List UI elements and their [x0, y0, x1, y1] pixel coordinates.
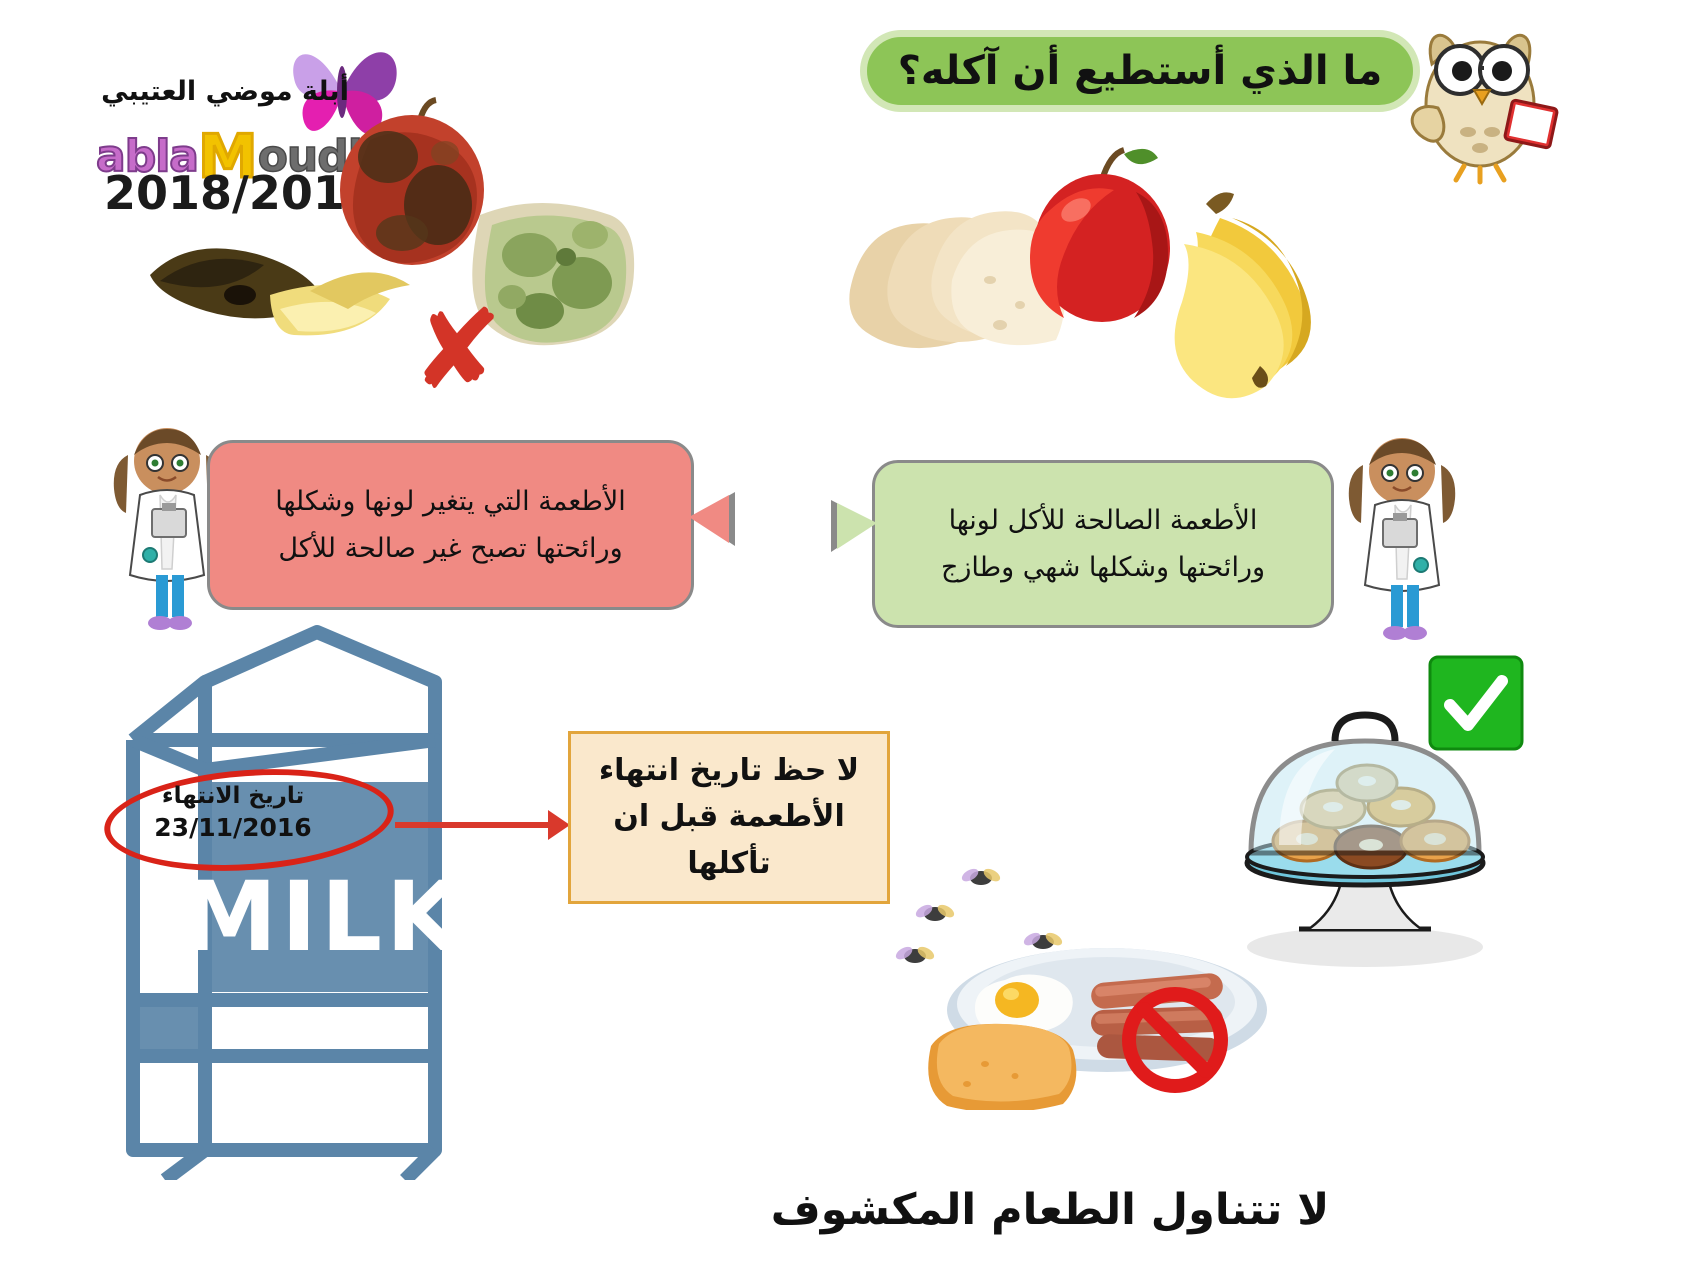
fresh-food-image-group — [840, 140, 1360, 400]
owl-icon — [1380, 8, 1580, 188]
spoiled-food-bubble-text: الأطعمة التي يتغير لونها وشكلها ورائحتها… — [236, 478, 665, 573]
fresh-bananas-image — [1175, 192, 1311, 398]
pointer-arrow-head — [548, 810, 570, 840]
fresh-food-speech-bubble: الأطعمة الصالحة للأكل لونها ورائحتها وشك… — [872, 460, 1334, 628]
no-entry-icon — [1120, 985, 1230, 1095]
expiry-advice-text: لا حظ تاريخ انتهاء الأطعمة قبل ان تأكلها — [585, 748, 873, 888]
rotten-apple-image — [340, 100, 484, 265]
red-x-icon: ✘ — [402, 300, 512, 410]
milk-carton-label: MILK — [182, 861, 465, 973]
infographic-canvas: أبلة موضي العتيبي ablaMoudhi 2018/2019 م… — [0, 0, 1707, 1280]
pointer-arrow-line — [395, 822, 555, 828]
spoiled-food-speech-bubble: الأطعمة التي يتغير لونها وشكلها ورائحتها… — [207, 440, 694, 610]
flies-icon — [895, 866, 1064, 963]
green-check-icon — [1428, 655, 1524, 751]
fresh-food-bubble-text: الأطعمة الصالحة للأكل لونها ورائحتها وشك… — [901, 497, 1305, 592]
rotten-banana-image — [150, 248, 410, 335]
expiry-date-label: تاريخ الانتهاء — [128, 783, 338, 809]
page-title: ما الذي أستطيع أن آكله؟ — [898, 48, 1383, 94]
girl-scientist-avatar — [1335, 425, 1470, 645]
page-title-banner: ما الذي أستطيع أن آكله؟ — [860, 30, 1420, 112]
bottom-caption: لا تتناول الطعام المكشوف — [700, 1185, 1400, 1235]
milk-carton-image: MILK — [105, 620, 505, 1180]
fresh-apple-image — [1030, 149, 1170, 322]
expiry-advice-box: لا حظ تاريخ انتهاء الأطعمة قبل ان تأكلها — [568, 731, 890, 904]
expiry-date-value: 23/11/2016 — [128, 813, 338, 842]
toast-bread-image — [928, 1024, 1076, 1110]
